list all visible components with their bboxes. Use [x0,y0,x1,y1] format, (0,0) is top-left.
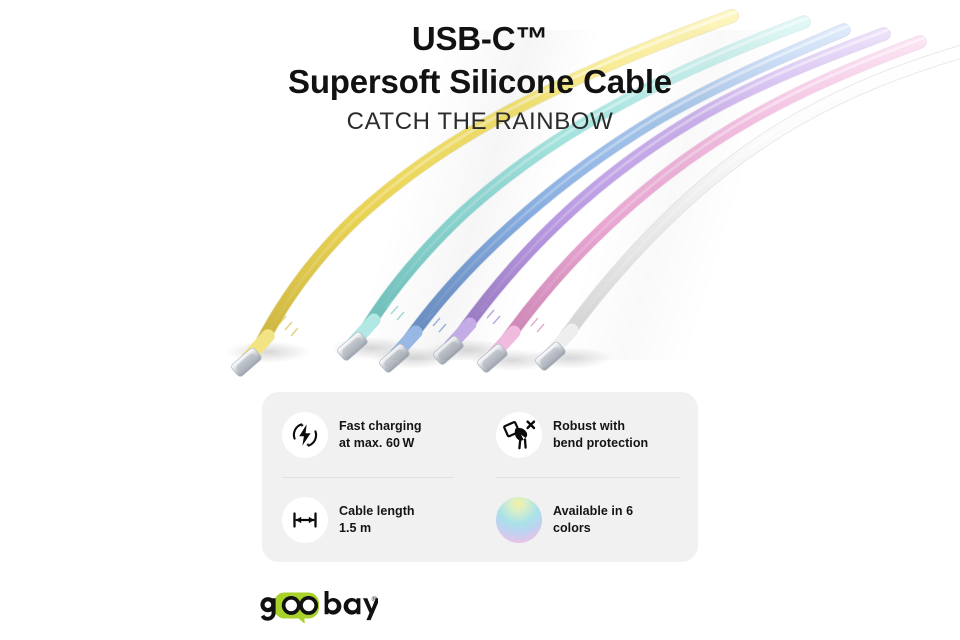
feature-bend-protection-text: Robust with bend protection [553,418,648,451]
feature-1-line1: Robust with [553,419,625,433]
feature-color-variants: Available in 6 colors [480,477,698,562]
feature-color-variants-text: Available in 6 colors [553,503,633,536]
feature-cable-length: Cable length 1.5 m [262,477,480,562]
feature-grid: Fast charging at max. 60 W [262,392,698,562]
bend-protection-icon [496,412,542,458]
product-tagline: CATCH THE RAINBOW [0,106,960,138]
feature-bend-protection: Robust with bend protection [480,392,698,477]
feature-2-line2: 1.5 m [339,520,415,537]
headline-block: USB-C™ Supersoft Silicone Cable CATCH TH… [0,18,960,138]
feature-fast-charging-text: Fast charging at max. 60 W [339,418,422,451]
goobay-logo-mark: ® [258,589,378,623]
product-title-line2: Supersoft Silicone Cable [0,61,960,103]
feature-0-line1: Fast charging [339,419,422,433]
fast-charging-icon [282,412,328,458]
product-title-line1: USB-C™ [0,18,960,60]
feature-1-line2: bend protection [553,435,648,452]
cable-length-icon [282,497,328,543]
color-gradient-icon [496,497,542,543]
feature-cable-length-text: Cable length 1.5 m [339,503,415,536]
logo-registered-mark: ® [372,595,378,604]
goobay-logo: ® [258,589,378,623]
feature-panel: Fast charging at max. 60 W [262,392,698,562]
feature-fast-charging: Fast charging at max. 60 W [262,392,480,477]
feature-3-line1: Available in 6 [553,504,633,518]
feature-0-line2: at max. 60 W [339,435,422,452]
feature-3-line2: colors [553,520,633,537]
product-marketing-image: USB-C™ Supersoft Silicone Cable CATCH TH… [0,0,960,640]
feature-2-line1: Cable length [339,504,415,518]
